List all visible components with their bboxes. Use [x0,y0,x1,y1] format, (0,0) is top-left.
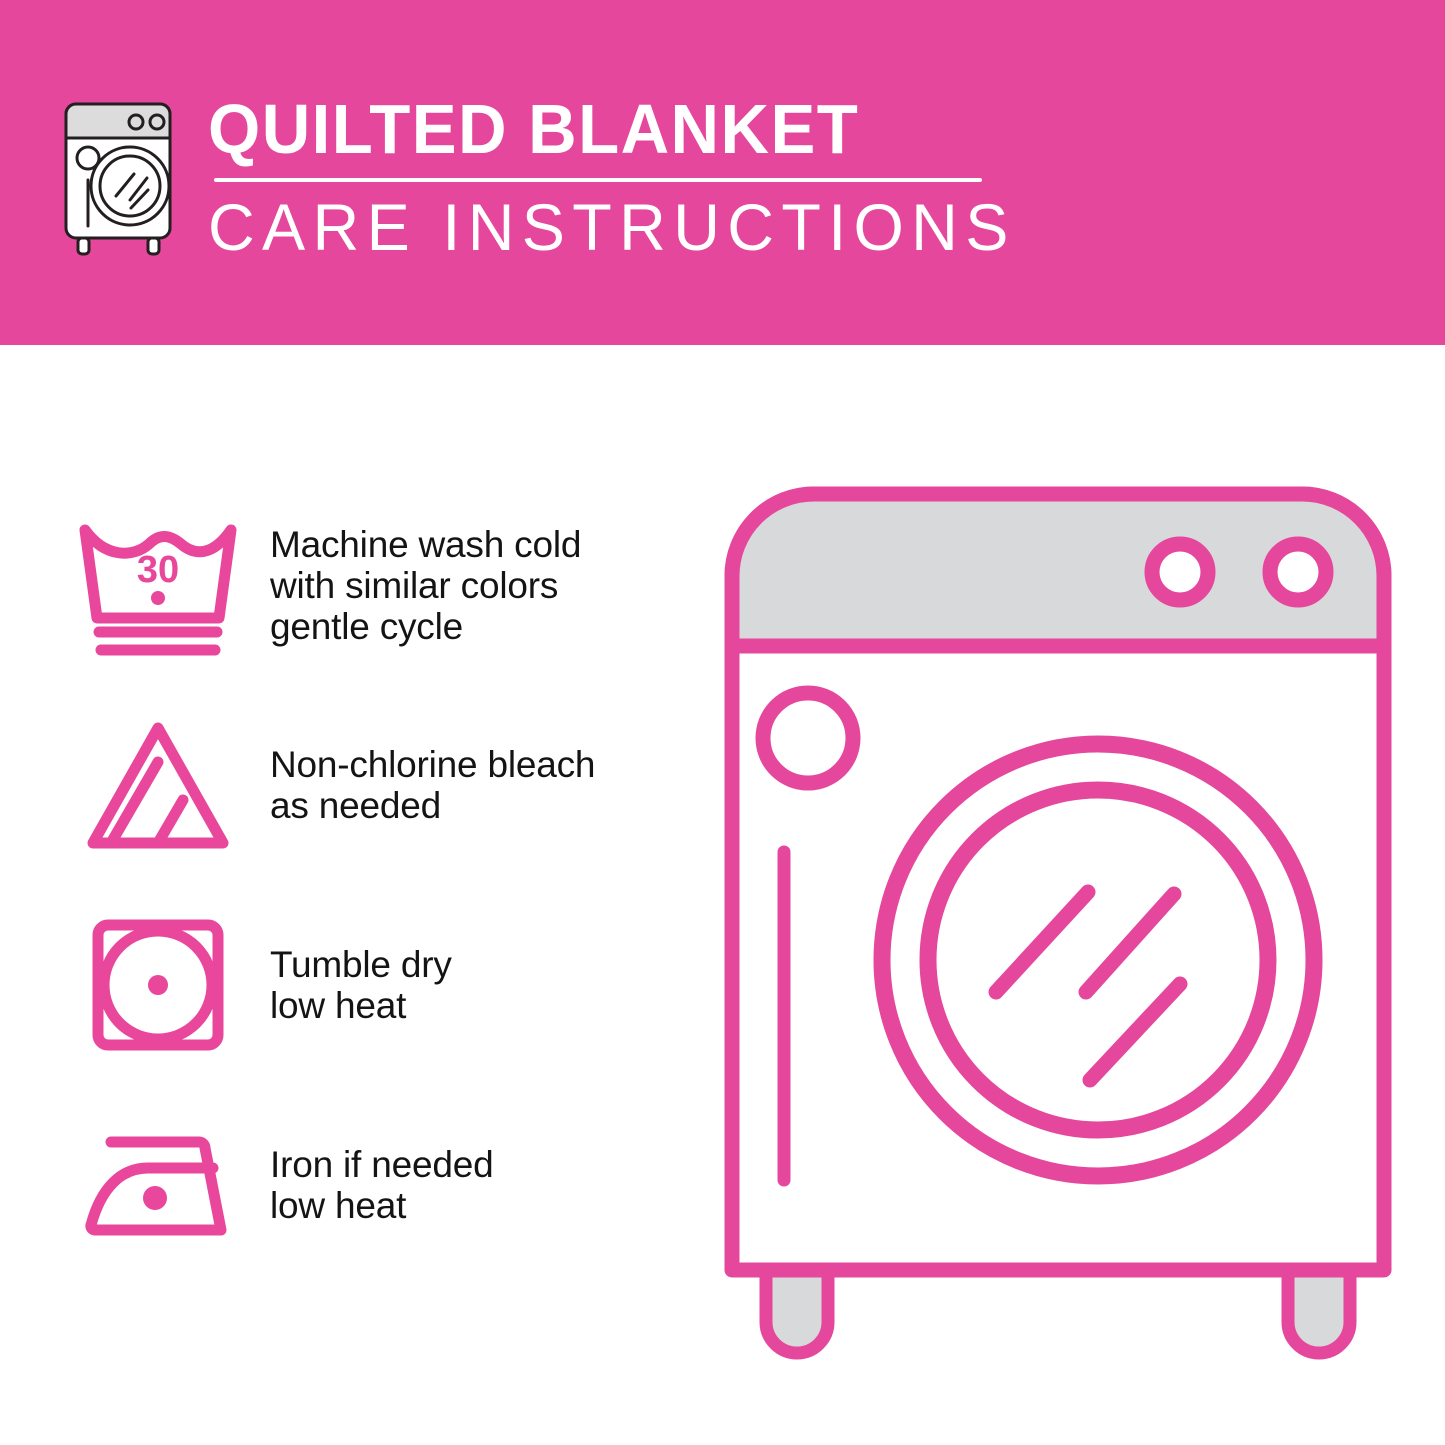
list-item-label: Tumble dry low heat [270,944,452,1026]
tumble-dry-low-icon [68,905,248,1065]
content-area: 30 Machine wash cold with similar colors… [0,345,1445,1445]
wash-tub-30-gentle-icon: 30 [68,505,248,665]
page-subtitle: CARE INSTRUCTIONS [208,192,1016,262]
list-item-label: Iron if needed low heat [270,1144,493,1226]
list-item-label: Non-chlorine bleach as needed [270,744,595,826]
header-band: QUILTED BLANKET CARE INSTRUCTIONS [0,0,1445,345]
list-item: Non-chlorine bleach as needed [68,685,688,885]
svg-text:30: 30 [137,549,179,591]
iron-low-heat-icon [68,1105,248,1265]
list-item: 30 Machine wash cold with similar colors… [68,485,688,685]
list-item: Tumble dry low heat [68,885,688,1085]
list-item-label: Machine wash cold with similar colors ge… [270,524,581,647]
header-content: QUILTED BLANKET CARE INSTRUCTIONS [60,92,1032,262]
washing-machine-icon [60,98,184,258]
non-chlorine-bleach-triangle-icon [68,705,248,865]
list-item: Iron if needed low heat [68,1085,688,1285]
title-block: QUILTED BLANKET CARE INSTRUCTIONS [208,92,1032,262]
page-title: QUILTED BLANKET [208,92,999,166]
title-divider [214,178,982,182]
large-washing-machine-illustration [718,480,1398,1360]
care-instruction-list: 30 Machine wash cold with similar colors… [68,485,688,1285]
